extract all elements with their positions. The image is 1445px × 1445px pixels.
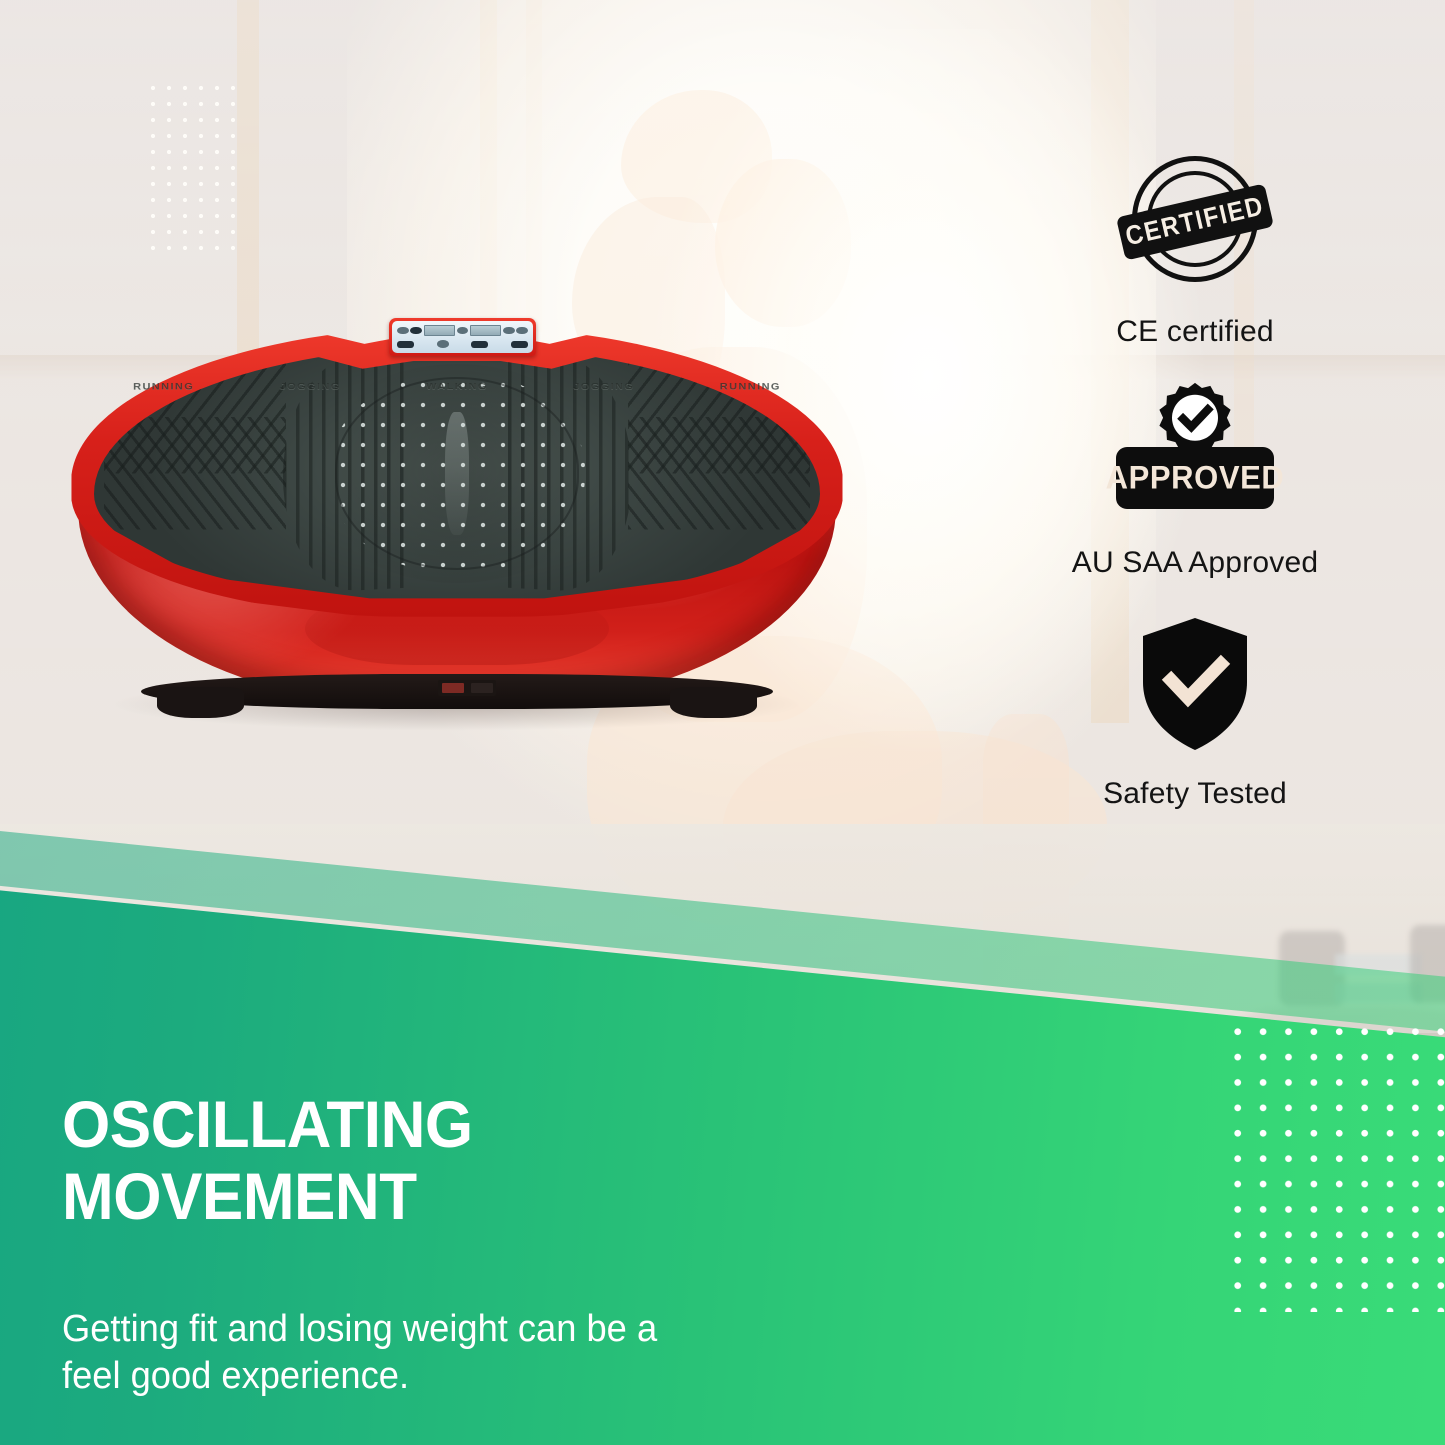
certification-badge-column: CERTIFIED CE certified APPROVED [1040,140,1350,811]
panel-button[interactable] [410,327,422,335]
control-panel-row-bottom [397,338,528,350]
badge-label-au-saa-approved: AU SAA Approved [1040,546,1350,580]
power-switch[interactable] [438,680,496,696]
page-subtitle: Getting fit and losing weight can be a f… [62,1306,797,1400]
product-marketing-poster: RUNNING JOGGING WALKING JOGGING RUNNING [0,0,1445,1445]
power-switch-rocker[interactable] [442,683,464,692]
panel-button[interactable] [437,340,449,348]
approved-banner-text: APPROVED [1106,459,1285,497]
product-control-panel[interactable] [389,318,536,356]
shield-check-icon-wrap [1040,602,1350,777]
control-panel-row-top [397,324,528,336]
approved-rosette-icon: APPROVED [1040,371,1350,546]
panel-lcd-display-left [424,325,455,336]
platform-massage-dot-zone [312,364,603,583]
panel-button[interactable] [516,327,528,335]
badge-label-ce-certified: CE certified [1040,315,1350,349]
platform-dot-zone-outline [335,377,579,570]
approved-banner: APPROVED [1116,447,1274,509]
panel-button[interactable] [471,341,488,348]
certified-stamp-icon: CERTIFIED [1040,140,1350,315]
badge-ce-certified: CERTIFIED CE certified [1040,140,1350,349]
panel-button[interactable] [503,327,515,335]
badge-safety-tested: Safety Tested [1040,602,1350,811]
panel-button[interactable] [457,327,469,335]
product-foot [670,687,757,718]
dot-grid-decoration-top-left [143,78,241,256]
badge-label-safety-tested: Safety Tested [1040,777,1350,811]
page-title: OSCILLATING MOVEMENT [62,1088,776,1232]
product-foot [157,687,244,718]
power-socket [471,683,493,692]
product-platform-surface [94,346,821,601]
product-image-vibration-plate: RUNNING JOGGING WALKING JOGGING RUNNING [62,300,852,740]
panel-button[interactable] [511,341,528,348]
panel-lcd-display-right [470,325,501,336]
panel-button[interactable] [397,327,409,335]
panel-button[interactable] [397,341,414,348]
shield-check-icon [1135,616,1255,752]
dot-grid-decoration-bottom-right [1222,1016,1445,1312]
badge-au-saa-approved: APPROVED AU SAA Approved [1040,371,1350,580]
control-panel-face [392,321,533,353]
